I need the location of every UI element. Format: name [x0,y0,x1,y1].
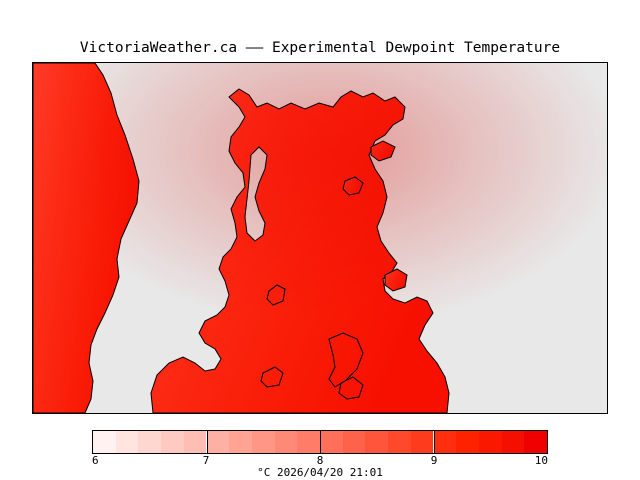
legend-color-segment [252,431,275,453]
legend-color-segment [365,431,388,453]
land-masses [33,63,607,413]
legend-color-segment [502,431,525,453]
legend-color-segment [161,431,184,453]
legend-color-segment [320,431,343,453]
legend-color-segment [116,431,139,453]
legend-color-segment [275,431,298,453]
warm-anomaly-overlay [33,63,607,413]
map-graphic [33,63,607,413]
color-scale-legend: 678910 [92,430,548,454]
legend-caption: °C 2026/04/20 21:01 [0,466,640,479]
map-canvas[interactable] [32,62,608,414]
legend-color-segment [434,431,457,453]
legend-color-segment [411,431,434,453]
page-title: VictoriaWeather.ca —— Experimental Dewpo… [0,40,640,56]
legend-color-segment [524,431,547,453]
legend-color-segment [184,431,207,453]
weather-map-page: VictoriaWeather.ca —— Experimental Dewpo… [0,0,640,480]
legend-color-segment [229,431,252,453]
legend-tick-mark [434,431,435,454]
legend-color-segment [388,431,411,453]
legend-color-bar [92,430,548,454]
legend-color-segment [93,431,116,453]
legend-color-segment [207,431,230,453]
legend-tick-mark [320,431,321,454]
legend-color-segment [297,431,320,453]
legend-tick-mark [207,431,208,454]
legend-color-segment [138,431,161,453]
legend-color-segment [479,431,502,453]
legend-color-segment [343,431,366,453]
legend-color-segment [456,431,479,453]
